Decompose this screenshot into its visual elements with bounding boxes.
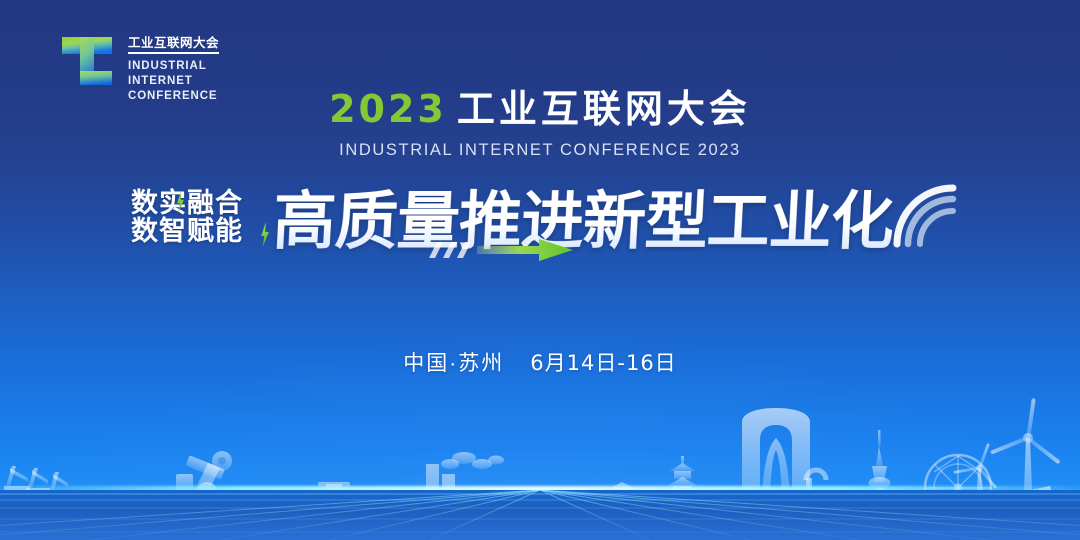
wifi-signal-icon [875,168,961,254]
headline-en-subtitle: INDUSTRIAL INTERNET CONFERENCE 2023 [0,141,1080,160]
slogan-small-line-1: 数实融合 [131,189,243,217]
slogan-main-text: 高质量推进新型工业化 [271,178,896,267]
slogan-small-line-2: 数智赋能 [131,217,243,245]
headline-main: 2023工业互联网大会 [0,88,1080,132]
conference-poster: 工业互联网大会 INDUSTRIAL INTERNET CONFERENCE 2… [0,0,1080,540]
industrial-internet-conference-logo-icon [56,30,118,92]
slogan-block: 数实融合 数智赋能 高质量推进新型工业化 [0,176,1080,286]
headline-year: 2023 [329,87,447,131]
event-date: 6月14日-16日 [530,351,676,375]
slogan-small-line-2-text: 数智赋能 [131,216,243,246]
lightning-bolt-icon [260,222,270,247]
event-meta: 中国·苏州6月14日-16日 [0,347,1080,377]
green-arrow-icon [477,238,573,262]
headline-cn-title: 工业互联网大会 [457,89,751,131]
logo-en-line-1: INDUSTRIAL [128,59,219,74]
logo-cn-name: 工业互联网大会 [128,37,219,54]
slogan-small-line-1-text: 数实融合 [131,188,243,218]
slogan-small-lines: 数实融合 数智赋能 [131,189,243,245]
headline-block: 2023工业互联网大会 INDUSTRIAL INTERNET CONFEREN… [0,88,1080,160]
perspective-grid-ground [0,490,1080,540]
perspective-grid [0,490,1080,540]
event-location: 中国·苏州 [403,352,504,375]
